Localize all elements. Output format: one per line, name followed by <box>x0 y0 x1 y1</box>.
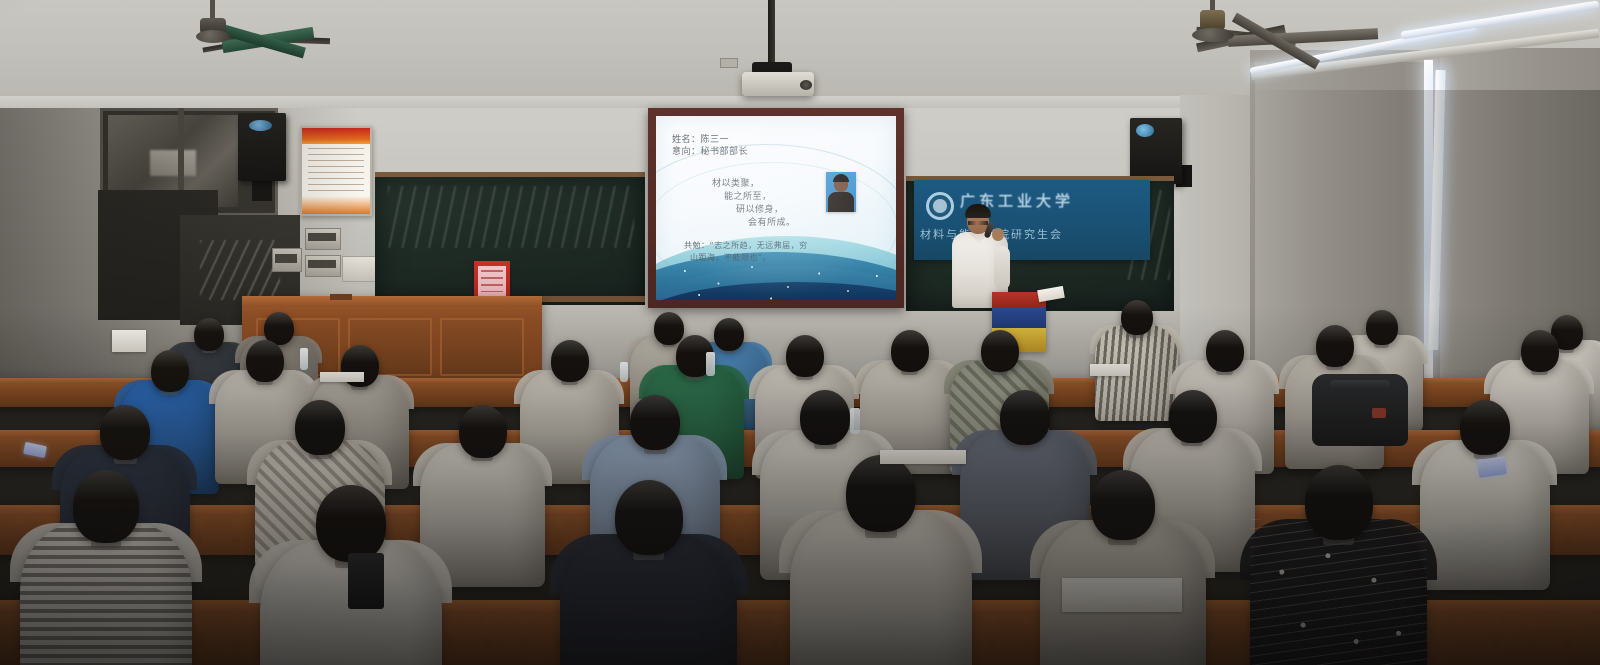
bench-slat <box>1456 618 1463 649</box>
bench-slat <box>772 618 779 649</box>
bench-slat <box>988 618 995 649</box>
bench-slat <box>232 618 239 649</box>
audience-head <box>630 395 680 450</box>
water-bottle[interactable] <box>706 352 715 376</box>
audience-head <box>1169 390 1217 443</box>
bench-slat <box>232 519 239 543</box>
bench-slat <box>1240 618 1247 649</box>
audience-head <box>459 405 507 458</box>
audience-head <box>846 455 916 532</box>
bench-slat <box>448 618 455 649</box>
bench-slat <box>736 519 743 543</box>
audience-head <box>1000 390 1050 445</box>
audience-head <box>786 335 824 377</box>
audience-head <box>1460 400 1510 455</box>
handout-paper[interactable] <box>320 372 364 382</box>
audience-seating-area <box>0 0 1600 665</box>
audience-head <box>246 340 284 382</box>
handout-paper[interactable] <box>880 450 966 464</box>
audience-member <box>1040 470 1206 665</box>
audience-head <box>1316 325 1354 367</box>
bench-slat <box>1492 618 1499 649</box>
bench-slat <box>1528 618 1535 649</box>
bench-slat <box>1564 618 1571 649</box>
audience-head <box>151 350 189 392</box>
lecture-hall-photo: 广东工业大学 材料与能源学院研究生会 姓名：陈三一 意向：秘书部部长 材以类聚，… <box>0 0 1600 665</box>
bench-slat <box>520 618 527 649</box>
audience-head <box>1521 330 1559 372</box>
bench-slat <box>196 618 203 649</box>
handout-paper[interactable] <box>1062 578 1182 612</box>
audience-head <box>551 340 589 382</box>
bench-slat <box>736 618 743 649</box>
audience-head <box>891 330 929 372</box>
handout-paper[interactable] <box>1090 364 1130 376</box>
audience-head <box>800 390 850 445</box>
audience-member <box>20 470 192 665</box>
bench-slat <box>1564 519 1571 543</box>
audience-head <box>1091 470 1155 540</box>
audience-head <box>1305 465 1373 540</box>
smartphone[interactable] <box>348 553 384 609</box>
water-bottle[interactable] <box>300 348 308 370</box>
handout-paper[interactable] <box>112 330 146 352</box>
backpack-strap <box>1330 380 1390 390</box>
audience-member <box>560 480 737 665</box>
bench-slat <box>1024 618 1031 649</box>
audience-member <box>1420 400 1550 605</box>
audience-member <box>1250 465 1427 665</box>
audience-member <box>790 455 972 665</box>
water-bottle[interactable] <box>620 362 628 382</box>
audience-head <box>295 400 345 455</box>
smartphone-screen[interactable] <box>1477 456 1507 478</box>
backpack-patch <box>1372 408 1386 418</box>
bench-slat <box>196 519 203 543</box>
water-bottle[interactable] <box>850 408 860 434</box>
audience-head <box>981 330 1019 372</box>
audience-head <box>1206 330 1244 372</box>
bench-slat <box>484 618 491 649</box>
audience-head <box>100 405 150 460</box>
audience-head <box>316 485 386 562</box>
audience-head <box>73 470 139 543</box>
audience-head <box>1121 300 1153 335</box>
audience-head <box>615 480 683 555</box>
